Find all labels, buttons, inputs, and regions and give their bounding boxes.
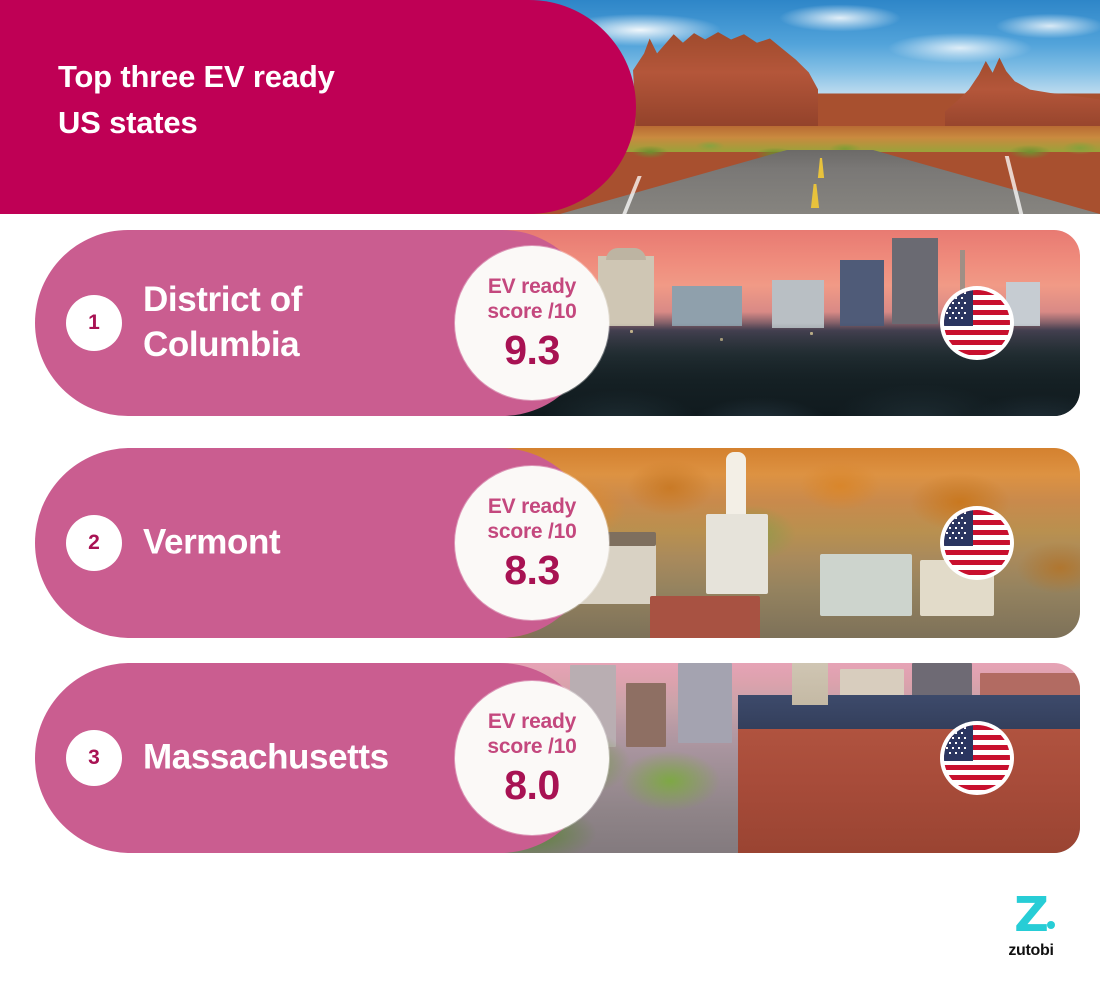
state-name: District of Columbia: [143, 278, 483, 368]
flag-graphic: [944, 510, 1010, 576]
state-name-line-1: District of: [143, 278, 483, 323]
state-name: Massachusetts: [143, 736, 483, 781]
page-title-line-1: Top three EV ready: [58, 54, 478, 100]
zutobi-z-icon: Z: [1005, 892, 1057, 940]
logo-dot-icon: [1047, 921, 1055, 929]
us-flag-icon: [940, 286, 1014, 360]
building: [672, 286, 742, 326]
score-label-line-1: EV ready: [487, 274, 576, 300]
flag-graphic: [944, 725, 1010, 791]
state-name-line-2: Columbia: [143, 323, 483, 368]
score-bubble: EV ready score /10 8.0: [455, 681, 609, 835]
state-name-line-1: Massachusetts: [143, 736, 483, 781]
score-label-line-1: EV ready: [487, 494, 576, 520]
score-bubble: EV ready score /10 8.3: [455, 466, 609, 620]
us-flag-icon: [940, 721, 1014, 795]
flag-stars: [944, 725, 973, 761]
mesa-rock-left: [633, 30, 818, 136]
page-title: Top three EV ready US states: [58, 54, 478, 146]
flag-graphic: [944, 290, 1010, 356]
score-label-line-2: score /10: [487, 519, 576, 545]
flag-canton: [944, 290, 973, 326]
score-label-line-1: EV ready: [487, 709, 576, 735]
score-label: EV ready score /10: [487, 274, 576, 325]
state-name-line-1: Vermont: [143, 521, 483, 566]
rank-badge: 1: [66, 295, 122, 351]
page-title-line-2: US states: [58, 100, 478, 146]
rank-badge: 2: [66, 515, 122, 571]
us-flag-icon: [940, 506, 1014, 580]
logo-wordmark: zutobi: [996, 942, 1066, 960]
score-value: 9.3: [504, 329, 560, 372]
house: [820, 554, 912, 616]
building-dome: [606, 248, 646, 260]
logo-letter: Z: [1005, 892, 1057, 938]
state-name: Vermont: [143, 521, 483, 566]
score-value: 8.0: [504, 764, 560, 807]
header-banner: Top three EV ready US states: [0, 0, 1100, 214]
flag-stars: [944, 290, 973, 326]
flag-canton: [944, 510, 973, 546]
faneuil-hall-brick: [738, 729, 1080, 853]
brand-logo[interactable]: Z zutobi: [996, 892, 1066, 960]
score-label-line-2: score /10: [487, 299, 576, 325]
score-bubble: EV ready score /10 9.3: [455, 246, 609, 400]
flag-stars: [944, 510, 973, 546]
cupola-tower: [792, 663, 828, 705]
score-label-line-2: score /10: [487, 734, 576, 760]
brick-building: [650, 596, 760, 638]
building: [840, 260, 884, 326]
building-tower: [892, 238, 938, 324]
score-label: EV ready score /10: [487, 709, 576, 760]
church-steeple: [726, 452, 746, 522]
score-label: EV ready score /10: [487, 494, 576, 545]
score-value: 8.3: [504, 549, 560, 592]
ranking-row[interactable]: 2 Vermont EV ready score /10 8.3: [0, 448, 1100, 638]
rank-badge: 3: [66, 730, 122, 786]
ranking-row[interactable]: 3 Massachusetts EV ready score /10 8.0: [0, 663, 1100, 853]
white-church: [706, 514, 768, 594]
flag-canton: [944, 725, 973, 761]
ranking-row[interactable]: 1 District of Columbia EV ready score /1…: [0, 230, 1100, 416]
building: [772, 280, 824, 328]
